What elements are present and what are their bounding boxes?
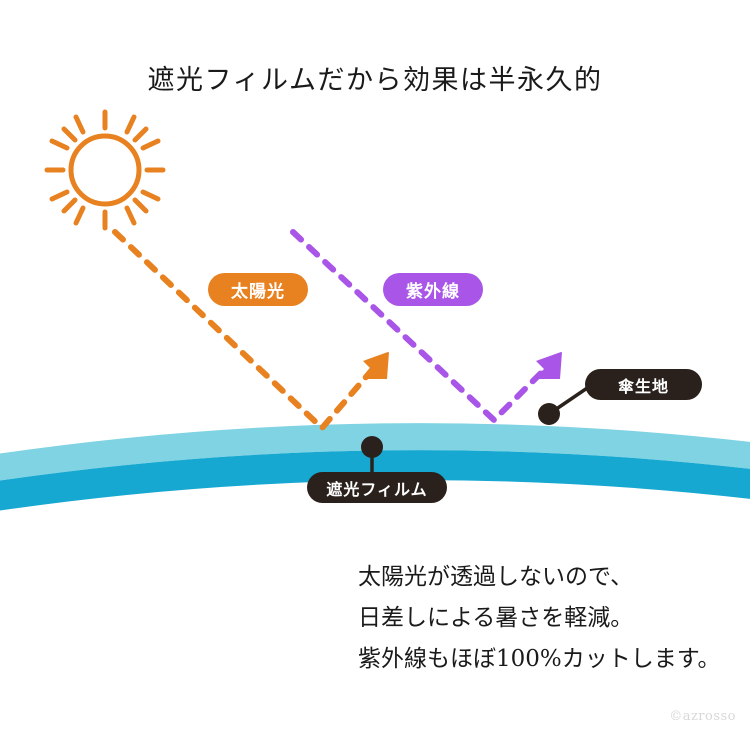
sun-icon (47, 112, 163, 228)
label-sunlight: 太陽光 (208, 273, 308, 306)
page-title: 遮光フィルムだから効果は半永久的 (0, 58, 750, 97)
callout-umbrella-fabric: 傘生地 (585, 369, 702, 400)
sunlight-ray-path (115, 232, 389, 428)
caption-line-2: 日差しによる暑さを軽減。 (358, 598, 720, 639)
label-ultraviolet: 紫外線 (383, 273, 483, 306)
callout-shading-film: 遮光フィルム (307, 472, 447, 503)
caption-line-1: 太陽光が透過しないので、 (358, 557, 720, 598)
caption-line-3: 紫外線もほぼ100%カットします。 (358, 639, 720, 680)
watermark: ©azrosso (669, 709, 736, 724)
caption-block: 太陽光が透過しないので、 日差しによる暑さを軽減。 紫外線もほぼ100%カットし… (358, 557, 720, 680)
infographic-canvas: 遮光フィルムだから効果は半永久的 太陽光 紫外線 遮光フィルム 傘生地 太陽光が… (0, 0, 750, 750)
ultraviolet-ray-path (293, 232, 562, 420)
